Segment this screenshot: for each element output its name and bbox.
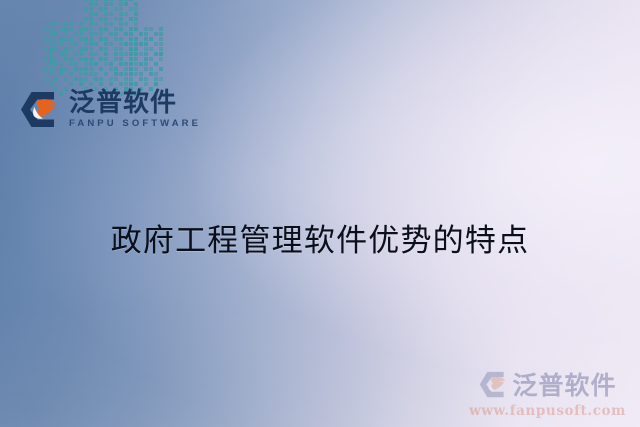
- page-title: 政府工程管理软件优势的特点: [0, 215, 640, 260]
- skyline-pixel: [99, 17, 103, 21]
- skyline-pixel: [94, 57, 98, 61]
- watermark-brand-row: 泛普软件: [479, 366, 617, 402]
- skyline-pixel: [49, 82, 53, 86]
- skyline-pixel: [104, 52, 108, 56]
- skyline-pixel: [109, 0, 113, 1]
- skyline-pixel: [144, 32, 148, 36]
- skyline-pixel: [94, 32, 98, 36]
- skyline-pixel: [144, 47, 148, 51]
- skyline-pixel: [74, 32, 78, 36]
- skyline-pixel: [44, 42, 48, 46]
- skyline-pixel: [139, 32, 143, 36]
- skyline-pixel: [59, 62, 63, 66]
- skyline-pixel: [159, 37, 163, 41]
- skyline-pixel: [129, 7, 133, 11]
- skyline-pixel: [129, 17, 133, 21]
- skyline-pixel: [114, 12, 118, 16]
- skyline-pixel: [124, 2, 128, 6]
- slide-canvas: 泛普软件 FANPU SOFTWARE 政府工程管理软件优势的特点 泛普软件 w…: [0, 0, 640, 427]
- skyline-pixel: [124, 82, 128, 86]
- skyline-pixel: [119, 42, 123, 46]
- skyline-pixel: [134, 0, 138, 1]
- skyline-pixel: [124, 42, 128, 46]
- skyline-pixel: [119, 77, 123, 81]
- skyline-pixel: [99, 12, 103, 16]
- skyline-pixel: [149, 42, 153, 46]
- skyline-pixel: [89, 22, 93, 26]
- skyline-pixel: [54, 47, 58, 51]
- skyline-pixel: [109, 22, 113, 26]
- skyline-pixel: [114, 47, 118, 51]
- skyline-pixel: [159, 82, 163, 86]
- skyline-pixel: [124, 67, 128, 71]
- skyline-pixel: [104, 32, 108, 36]
- skyline-pixel: [59, 82, 63, 86]
- skyline-pixel: [124, 0, 128, 1]
- skyline-pixel: [139, 82, 143, 86]
- skyline-pixel: [149, 52, 153, 56]
- skyline-pixel: [59, 42, 63, 46]
- skyline-pixel: [84, 67, 88, 71]
- skyline-pixel: [119, 67, 123, 71]
- skyline-pixel: [94, 42, 98, 46]
- skyline-pixel: [109, 17, 113, 21]
- skyline-pixel: [114, 32, 118, 36]
- skyline-pixel: [84, 0, 88, 1]
- skyline-pixel: [44, 62, 48, 66]
- skyline-pixel: [154, 42, 158, 46]
- skyline-pixel: [54, 37, 58, 41]
- skyline-pixel: [124, 32, 128, 36]
- skyline-pixel: [144, 72, 148, 76]
- skyline-pixel: [159, 42, 163, 46]
- skyline-pixel: [104, 72, 108, 76]
- skyline-pixel: [139, 47, 143, 51]
- skyline-pixel: [69, 17, 73, 21]
- skyline-pixel: [129, 12, 133, 16]
- skyline-pixel: [84, 32, 88, 36]
- skyline-pixel: [84, 82, 88, 86]
- skyline-pixel: [84, 17, 88, 21]
- skyline-pixel: [114, 62, 118, 66]
- brand-name-en: FANPU SOFTWARE: [69, 119, 201, 129]
- skyline-pixel: [144, 37, 148, 41]
- skyline-pixel: [84, 12, 88, 16]
- skyline-pixel: [134, 37, 138, 41]
- skyline-pixel: [54, 32, 58, 36]
- skyline-pixel: [104, 62, 108, 66]
- skyline-pixel: [104, 27, 108, 31]
- skyline-pixel: [84, 22, 88, 26]
- skyline-pixel: [74, 27, 78, 31]
- skyline-pixel: [129, 0, 133, 1]
- skyline-pixel: [114, 77, 118, 81]
- skyline-pixel: [114, 0, 118, 1]
- skyline-pixel: [44, 32, 48, 36]
- skyline-pixel: [134, 72, 138, 76]
- skyline-pixel: [59, 47, 63, 51]
- skyline-pixel: [94, 12, 98, 16]
- skyline-pixel: [139, 27, 143, 31]
- skyline-pixel: [64, 52, 68, 56]
- skyline-pixel: [104, 2, 108, 6]
- skyline-pixel: [124, 62, 128, 66]
- watermark[interactable]: 泛普软件 www.fanpusoft.com: [469, 366, 626, 419]
- skyline-pixel: [104, 0, 108, 1]
- skyline-pixel: [129, 32, 133, 36]
- skyline-pixel: [99, 2, 103, 6]
- skyline-pixel: [69, 57, 73, 61]
- skyline-pixel: [49, 77, 53, 81]
- skyline-pixel: [79, 82, 83, 86]
- skyline-pixel: [94, 52, 98, 56]
- skyline-pixel: [94, 62, 98, 66]
- skyline-pixel: [79, 27, 83, 31]
- skyline-pixel: [154, 62, 158, 66]
- skyline-pixel: [149, 57, 153, 61]
- skyline-pixel: [114, 17, 118, 21]
- skyline-pixel: [89, 37, 93, 41]
- skyline-pixel: [139, 37, 143, 41]
- skyline-pixel: [154, 27, 158, 31]
- brand-wordmark: 泛普软件 FANPU SOFTWARE: [69, 90, 201, 129]
- skyline-pixel: [69, 77, 73, 81]
- skyline-pixel: [104, 37, 108, 41]
- skyline-pixel: [139, 42, 143, 46]
- skyline-pixel: [104, 67, 108, 71]
- skyline-pixel: [44, 27, 48, 31]
- skyline-pixel: [104, 12, 108, 16]
- skyline-pixel: [94, 77, 98, 81]
- skyline-pixel: [89, 32, 93, 36]
- skyline-pixel: [49, 47, 53, 51]
- skyline-pixel: [114, 82, 118, 86]
- skyline-pixel: [119, 47, 123, 51]
- skyline-pixel: [79, 67, 83, 71]
- skyline-pixel: [134, 17, 138, 21]
- skyline-pixel: [139, 72, 143, 76]
- skyline-pixel: [64, 82, 68, 86]
- skyline-pixel: [154, 67, 158, 71]
- skyline-pixel: [119, 12, 123, 16]
- skyline-pixel: [134, 42, 138, 46]
- skyline-pixel: [99, 62, 103, 66]
- skyline-pixel: [64, 77, 68, 81]
- skyline-pixel: [69, 32, 73, 36]
- skyline-pixel: [129, 62, 133, 66]
- skyline-pixel: [119, 22, 123, 26]
- skyline-pixel: [64, 22, 68, 26]
- skyline-pixel: [74, 72, 78, 76]
- skyline-pixel: [139, 67, 143, 71]
- skyline-pixel: [109, 52, 113, 56]
- skyline-pixel: [84, 72, 88, 76]
- skyline-pixel: [49, 17, 53, 21]
- skyline-pixel: [49, 32, 53, 36]
- fanpu-hexagon-swoosh-icon: [479, 371, 508, 398]
- skyline-pixel: [99, 22, 103, 26]
- skyline-pixel: [54, 52, 58, 56]
- skyline-pixel: [109, 62, 113, 66]
- watermark-brand-name: 泛普软件: [513, 366, 617, 402]
- skyline-pixel: [44, 17, 48, 21]
- skyline-pixel: [149, 37, 153, 41]
- skyline-pixel: [129, 67, 133, 71]
- skyline-pixel: [89, 12, 93, 16]
- skyline-pixel: [159, 67, 163, 71]
- skyline-pixel: [149, 27, 153, 31]
- skyline-pixel: [129, 27, 133, 31]
- skyline-pixel: [129, 37, 133, 41]
- skyline-pixel: [89, 47, 93, 51]
- skyline-pixel: [79, 22, 83, 26]
- skyline-pixel: [134, 27, 138, 31]
- skyline-pixel: [129, 77, 133, 81]
- skyline-pixel: [89, 77, 93, 81]
- skyline-pixel: [114, 42, 118, 46]
- skyline-pixel: [44, 47, 48, 51]
- skyline-pixel: [94, 17, 98, 21]
- skyline-pixel: [84, 37, 88, 41]
- skyline-pixel: [129, 22, 133, 26]
- skyline-pixel: [59, 77, 63, 81]
- skyline-pixel: [74, 62, 78, 66]
- skyline-pixel: [139, 57, 143, 61]
- skyline-pixel: [74, 52, 78, 56]
- skyline-pixel: [104, 7, 108, 11]
- skyline-pixel: [159, 52, 163, 56]
- skyline-pixel: [154, 72, 158, 76]
- skyline-pixel: [64, 27, 68, 31]
- skyline-pixel: [119, 52, 123, 56]
- skyline-pixel: [69, 47, 73, 51]
- skyline-pixel: [119, 17, 123, 21]
- skyline-pixel: [134, 47, 138, 51]
- skyline-pixel: [89, 57, 93, 61]
- skyline-pixel: [74, 17, 78, 21]
- skyline-pixel: [64, 32, 68, 36]
- skyline-right-tower: [124, 27, 163, 96]
- skyline-pixel: [69, 82, 73, 86]
- skyline-pixel: [74, 37, 78, 41]
- skyline-pixel: [64, 42, 68, 46]
- skyline-pixel: [99, 77, 103, 81]
- skyline-pixel: [124, 12, 128, 16]
- skyline-pixel: [94, 7, 98, 11]
- skyline-pixel: [99, 27, 103, 31]
- skyline-pixel: [159, 72, 163, 76]
- skyline-pixel: [89, 67, 93, 71]
- skyline-pixel: [114, 67, 118, 71]
- skyline-pixel: [114, 52, 118, 56]
- skyline-pixel: [134, 12, 138, 16]
- skyline-pixel: [94, 72, 98, 76]
- skyline-pixel: [74, 82, 78, 86]
- skyline-pixel: [114, 22, 118, 26]
- skyline-pixel: [94, 22, 98, 26]
- skyline-pixel: [89, 42, 93, 46]
- brand-name-cn: 泛普软件: [69, 90, 201, 116]
- skyline-pixel: [84, 47, 88, 51]
- skyline-pixel: [74, 57, 78, 61]
- skyline-pixel: [99, 7, 103, 11]
- skyline-pixel: [149, 82, 153, 86]
- skyline-pixel: [44, 67, 48, 71]
- skyline-pixel: [144, 52, 148, 56]
- skyline-pixel: [44, 22, 48, 26]
- skyline-pixel: [89, 7, 93, 11]
- skyline-pixel: [144, 67, 148, 71]
- skyline-pixel: [59, 17, 63, 21]
- skyline-pixel: [119, 72, 123, 76]
- skyline-pixel: [74, 47, 78, 51]
- skyline-pixel: [139, 52, 143, 56]
- skyline-pixel: [59, 32, 63, 36]
- skyline-pixel: [154, 47, 158, 51]
- skyline-left-tower: [44, 17, 88, 96]
- skyline-pixel: [104, 57, 108, 61]
- skyline-pixel: [99, 82, 103, 86]
- skyline-pixel: [69, 27, 73, 31]
- skyline-pixel: [89, 27, 93, 31]
- skyline-pixel: [114, 72, 118, 76]
- skyline-pixel: [59, 37, 63, 41]
- skyline-pixel: [99, 37, 103, 41]
- skyline-pixel: [119, 2, 123, 6]
- skyline-pixel: [44, 52, 48, 56]
- skyline-pixel: [114, 27, 118, 31]
- skyline-pixel: [129, 57, 133, 61]
- skyline-pixel: [124, 52, 128, 56]
- skyline-pixel: [109, 12, 113, 16]
- skyline-pixel: [149, 77, 153, 81]
- skyline-pixel: [154, 57, 158, 61]
- skyline-pixel: [109, 27, 113, 31]
- skyline-pixel: [139, 62, 143, 66]
- skyline-pixel: [99, 72, 103, 76]
- skyline-pixel: [79, 62, 83, 66]
- skyline-pixel: [54, 72, 58, 76]
- skyline-pixel: [134, 57, 138, 61]
- skyline-pixel: [104, 82, 108, 86]
- skyline-pixel: [69, 62, 73, 66]
- skyline-pixel: [44, 37, 48, 41]
- skyline-pixel: [129, 2, 133, 6]
- watermark-url[interactable]: www.fanpusoft.com: [469, 403, 626, 419]
- skyline-pixel: [124, 47, 128, 51]
- skyline-pixel: [64, 17, 68, 21]
- skyline-pixel: [144, 27, 148, 31]
- skyline-pixel: [94, 37, 98, 41]
- skyline-pixel: [99, 42, 103, 46]
- skyline-pixel: [79, 57, 83, 61]
- skyline-pixel: [64, 57, 68, 61]
- skyline-pixel: [109, 47, 113, 51]
- skyline-pixel: [89, 52, 93, 56]
- skyline-pixel: [49, 62, 53, 66]
- skyline-pixel: [114, 37, 118, 41]
- skyline-pixel: [134, 22, 138, 26]
- skyline-pixel: [109, 37, 113, 41]
- fanpu-hexagon-swoosh-icon: [20, 91, 60, 128]
- skyline-pixel: [134, 52, 138, 56]
- skyline-pixel: [109, 57, 113, 61]
- skyline-pixel: [94, 27, 98, 31]
- skyline-pixel: [109, 2, 113, 6]
- skyline-pixel: [124, 57, 128, 61]
- skyline-pixel: [44, 72, 48, 76]
- skyline-pixel: [44, 77, 48, 81]
- skyline-pixel: [59, 22, 63, 26]
- skyline-pixel: [124, 77, 128, 81]
- skyline-pixel: [79, 42, 83, 46]
- skyline-pixel: [94, 47, 98, 51]
- skyline-pixel: [84, 52, 88, 56]
- skyline-pixel: [94, 82, 98, 86]
- skyline-pixel: [99, 67, 103, 71]
- skyline-pixel: [144, 42, 148, 46]
- skyline-pixel: [124, 7, 128, 11]
- skyline-pixel: [129, 47, 133, 51]
- skyline-pixel: [74, 77, 78, 81]
- skyline-pixel: [89, 17, 93, 21]
- skyline-pixel: [154, 32, 158, 36]
- skyline-pixel: [54, 62, 58, 66]
- skyline-pixel: [94, 2, 98, 6]
- skyline-pixel: [99, 52, 103, 56]
- skyline-pixel: [109, 32, 113, 36]
- skyline-pixel: [134, 32, 138, 36]
- skyline-pixel: [74, 22, 78, 26]
- skyline-pixel: [134, 2, 138, 6]
- skyline-pixel: [144, 62, 148, 66]
- skyline-pixel: [104, 77, 108, 81]
- skyline-pixel: [79, 37, 83, 41]
- skyline-pixel: [144, 77, 148, 81]
- skyline-pixel: [84, 27, 88, 31]
- skyline-pixel: [49, 67, 53, 71]
- skyline-pixel: [119, 82, 123, 86]
- skyline-pixel: [124, 72, 128, 76]
- skyline-pixel: [149, 32, 153, 36]
- skyline-pixel: [49, 27, 53, 31]
- skyline-pixel: [154, 77, 158, 81]
- skyline-pixel: [134, 7, 138, 11]
- skyline-pixel: [59, 72, 63, 76]
- skyline-pixel: [144, 57, 148, 61]
- skyline-pixel: [109, 77, 113, 81]
- skyline-pixel: [64, 37, 68, 41]
- skyline-pixel: [59, 57, 63, 61]
- skyline-pixel: [64, 47, 68, 51]
- skyline-pixel: [119, 62, 123, 66]
- skyline-pixel: [79, 47, 83, 51]
- skyline-pixel: [79, 77, 83, 81]
- skyline-pixel: [84, 62, 88, 66]
- skyline-pixel: [154, 82, 158, 86]
- skyline-pixel: [89, 72, 93, 76]
- skyline-pixel: [129, 82, 133, 86]
- skyline-pixel: [99, 47, 103, 51]
- skyline-pixel: [49, 52, 53, 56]
- skyline-pixel: [89, 0, 93, 1]
- skyline-pixel: [64, 62, 68, 66]
- skyline-pixel: [54, 17, 58, 21]
- skyline-pixel: [124, 37, 128, 41]
- skyline-pixel: [134, 62, 138, 66]
- skyline-pixel: [109, 72, 113, 76]
- skyline-pixel: [69, 67, 73, 71]
